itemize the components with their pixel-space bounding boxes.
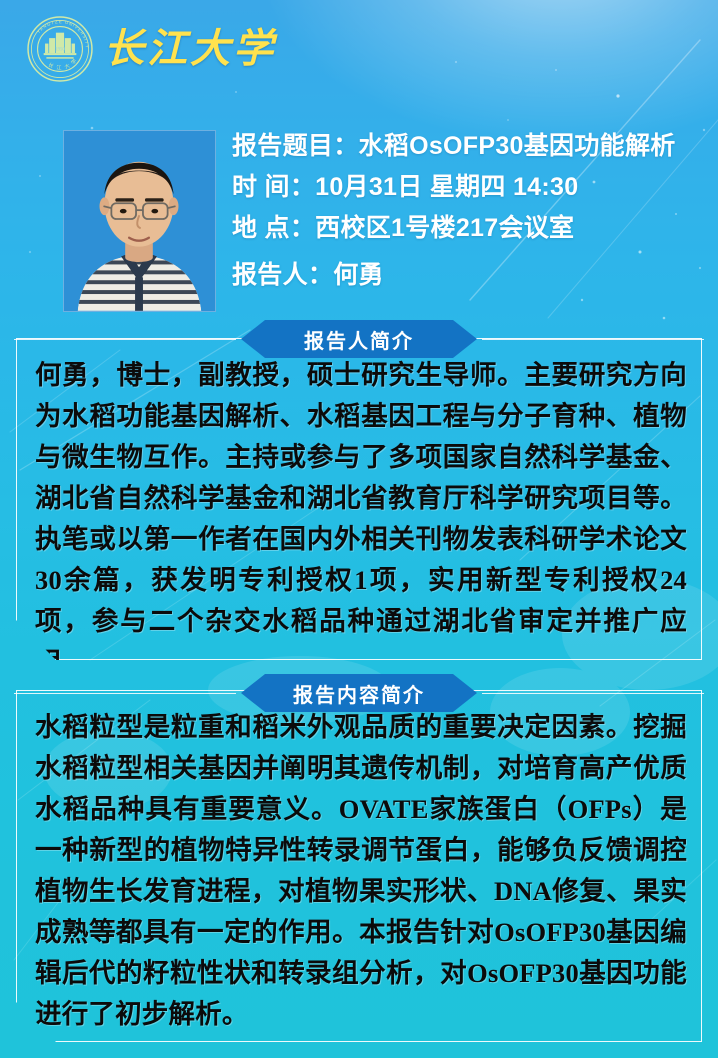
bio-panel: 何勇，博士，副教授，硕士研究生导师。主要研究方向为水稻功能基因解析、水稻基因工程… — [16, 338, 702, 660]
university-logo: YANGTZE UNIVERSITY 长 江 大 学 1950 长江大学 — [26, 15, 276, 83]
poster-root: YANGTZE UNIVERSITY 长 江 大 学 1950 长江大学 — [0, 0, 718, 1058]
svg-text:1950: 1950 — [55, 47, 65, 52]
section-banner-bio-label: 报告人简介 — [241, 320, 477, 358]
svg-text:长 江 大 学: 长 江 大 学 — [47, 56, 79, 71]
talk-title-line: 报告题目：水稻OsOFP30基因功能解析 — [232, 134, 712, 159]
speaker-portrait — [63, 130, 216, 312]
poster-header: YANGTZE UNIVERSITY 长 江 大 学 1950 长江大学 — [0, 0, 718, 110]
university-seal-icon: YANGTZE UNIVERSITY 长 江 大 学 1950 — [26, 15, 94, 83]
speaker-info-block: 报告题目：水稻OsOFP30基因功能解析 时 间：10月31日 星期四 14:3… — [0, 128, 718, 318]
section-banner-abstract-label: 报告内容简介 — [241, 674, 477, 712]
talk-speaker-line: 报告人：何勇 — [232, 263, 712, 288]
bio-text: 何勇，博士，副教授，硕士研究生导师。主要研究方向为水稻功能基因解析、水稻基因工程… — [35, 355, 687, 683]
university-name-text: 长江大学 — [104, 29, 276, 69]
talk-location-line: 地 点：西校区1号楼217会议室 — [232, 216, 712, 241]
talk-details: 报告题目：水稻OsOFP30基因功能解析 时 间：10月31日 星期四 14:3… — [232, 134, 712, 288]
abstract-panel: 水稻粒型是粒重和稻米外观品质的重要决定因素。挖掘水稻粒型相关基因并阐明其遗传机制… — [16, 690, 702, 1042]
talk-time-line: 时 间：10月31日 星期四 14:30 — [232, 175, 712, 200]
abstract-text: 水稻粒型是粒重和稻米外观品质的重要决定因素。挖掘水稻粒型相关基因并阐明其遗传机制… — [35, 707, 687, 1035]
